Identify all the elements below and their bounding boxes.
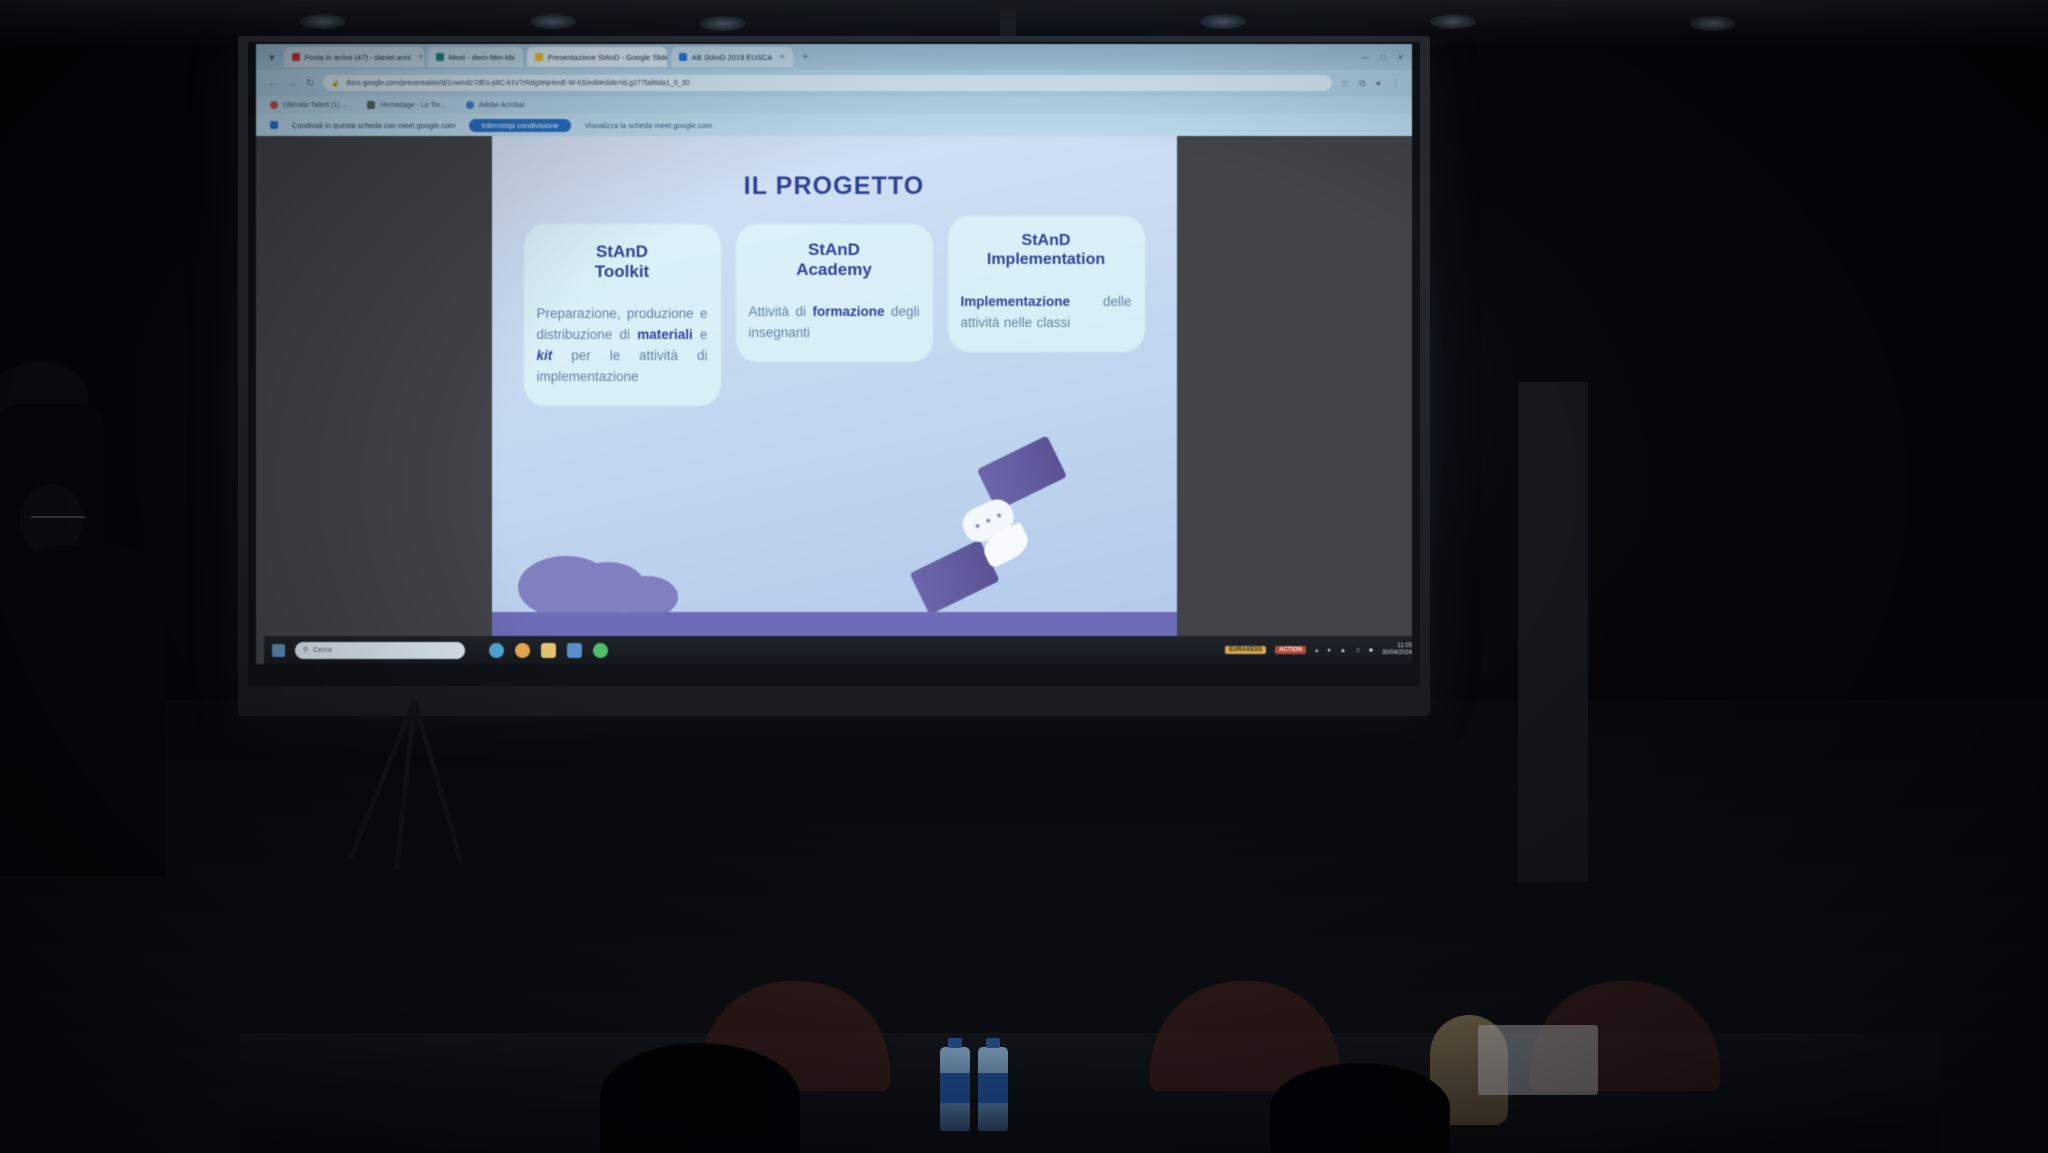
card-heading: StAnD Academy [749, 240, 920, 280]
drive-icon [679, 53, 687, 61]
page-title: IL PROGETTO [492, 172, 1177, 201]
maximize-button[interactable]: □ [1380, 53, 1385, 62]
usb-icon[interactable]: ♦ [1327, 647, 1330, 654]
browser-tab[interactable]: Posta in arrivo (47) - daniel.anni ✕ [284, 47, 424, 67]
search-placeholder: Cerca [313, 647, 332, 654]
forward-icon[interactable]: → [287, 78, 297, 89]
card-body: Attività di formazione degli insegnanti [749, 302, 920, 344]
ceiling-light [1200, 14, 1246, 29]
status-badge: EURAXESS [1225, 646, 1266, 654]
bookmark-item[interactable]: Adobe Acrobat [466, 101, 525, 109]
right-wall-panel [1518, 382, 1588, 882]
battery-icon[interactable]: ■ [1369, 647, 1373, 654]
water-bottle [978, 1047, 1008, 1131]
satellite-window [996, 513, 1001, 518]
system-tray: EURAXESS ACTION ▴ ♦ ▲ ♫ ■ 11:03 30/04/20… [1225, 643, 1412, 657]
bookmark-label: Homepage - Le Tor... [380, 102, 445, 109]
slides-icon [535, 53, 543, 61]
browser-tab[interactable]: Meet - dwm-fdm-kbi [428, 47, 523, 67]
card-stand-implementation: StAnD Implementation Implementazione del… [948, 216, 1145, 352]
projector-mount [1000, 0, 1016, 40]
card-body: Implementazione delle attività nelle cla… [961, 292, 1132, 334]
search-icon: ⚲ [303, 646, 308, 654]
chrome-taskbar-icon[interactable] [515, 643, 530, 658]
taskbar-app-icons [489, 643, 608, 658]
clock-time: 11:03 [1397, 643, 1412, 649]
bookmark-star-icon[interactable]: ☆ [1341, 78, 1349, 89]
card-body: Preparazione, produzione e distribuzione… [537, 304, 708, 388]
url-text: docs.google.com/presentation/d/1nwmdz7dE… [346, 80, 689, 87]
meet-banner-icon [270, 121, 278, 129]
clock-date: 30/04/2024 [1382, 650, 1412, 656]
slides-canvas-area: IL PROGETTO StAnD Toolkit Preparazione, … [256, 136, 1412, 664]
screen-share-banner: Condividi in questa scheda con meet.goog… [256, 114, 1412, 136]
acrobat-bookmark-icon [466, 101, 474, 109]
home-bookmark-icon [367, 101, 375, 109]
tab-title: AB StAnD 2019 EUSCA [692, 53, 772, 62]
card-heading: StAnD Implementation [961, 232, 1132, 270]
bottle-label [978, 1073, 1008, 1103]
bookmarks-bar: Ultimate Talent (1) ... Homepage - Le To… [256, 96, 1412, 114]
presentation-slide: IL PROGETTO StAnD Toolkit Preparazione, … [492, 136, 1177, 664]
browser-tab-active[interactable]: Presentazione StAnD - Google Slides ✕ [527, 47, 667, 67]
stop-sharing-button[interactable]: Interrompi condivisione [469, 119, 570, 132]
address-bar[interactable]: 🔒 docs.google.com/presentation/d/1nwmdz7… [323, 75, 1332, 91]
close-icon[interactable]: ✕ [779, 53, 785, 61]
bookmark-label: Adobe Acrobat [479, 102, 525, 109]
youtube-bookmark-icon [270, 101, 278, 109]
card-stand-academy: StAnD Academy Attività di formazione deg… [736, 224, 933, 362]
volume-icon[interactable]: ♫ [1355, 647, 1360, 654]
tab-title: Presentazione StAnD - Google Slides [548, 53, 667, 62]
minimize-button[interactable]: — [1360, 53, 1368, 62]
ceiling-light [1690, 16, 1736, 31]
profile-avatar[interactable]: ● [1376, 78, 1381, 88]
toolbar-right-group: ☆ ⧉ ● ⋮ [1341, 78, 1400, 89]
close-window-button[interactable]: ✕ [1397, 53, 1404, 62]
explorer-taskbar-icon[interactable] [541, 643, 556, 658]
view-tab-link[interactable]: Visualizza la scheda meet.google.com [585, 121, 712, 130]
bottle-label [940, 1073, 970, 1103]
ceiling-light [530, 14, 576, 29]
satellite-window [974, 523, 979, 528]
satellite-illustration [871, 422, 1108, 640]
camera-tripod [356, 700, 476, 880]
meet-icon [436, 53, 444, 61]
chrome-menu-icon[interactable]: ⋮ [1391, 78, 1400, 89]
speaker-glasses [30, 516, 86, 525]
tab-title: Meet - dwm-fdm-kbi [449, 53, 515, 62]
tab-title: Posta in arrivo (47) - daniel.anni [305, 53, 411, 62]
ceiling-light [300, 14, 346, 29]
network-icon[interactable]: ▲ [1340, 647, 1346, 654]
chevron-up-icon[interactable]: ▴ [1315, 646, 1318, 654]
ceiling-light [1430, 14, 1476, 29]
speaker-body-silhouette [0, 546, 165, 876]
new-tab-button[interactable]: + [797, 51, 813, 63]
seated-person-silhouette [1270, 1063, 1450, 1153]
cards-row: StAnD Toolkit Preparazione, produzione e… [524, 224, 1145, 406]
tripod-leg [412, 699, 464, 864]
chrome-browser-window: ▾ Posta in arrivo (47) - daniel.anni ✕ M… [256, 44, 1412, 664]
spotify-taskbar-icon[interactable] [593, 643, 608, 658]
browser-tab-strip: ▾ Posta in arrivo (47) - daniel.anni ✕ M… [256, 44, 1412, 70]
ceiling-light [700, 16, 746, 31]
windows-taskbar: ⚲ Cerca EURAXESS ACTION ▴ ♦ [264, 636, 1412, 664]
reload-icon[interactable]: ↻ [306, 78, 314, 89]
bookmark-item[interactable]: Homepage - Le Tor... [367, 101, 445, 109]
gmail-icon [292, 53, 300, 61]
window-controls: — □ ✕ [1360, 44, 1404, 70]
card-stand-toolkit: StAnD Toolkit Preparazione, produzione e… [524, 224, 721, 406]
start-button[interactable] [272, 644, 285, 657]
white-box-object [1478, 1025, 1598, 1095]
card-heading: StAnD Toolkit [537, 242, 708, 282]
back-icon[interactable]: ← [268, 78, 278, 89]
edge-taskbar-icon[interactable] [489, 643, 504, 658]
conference-room-photo: ▾ Posta in arrivo (47) - daniel.anni ✕ M… [0, 0, 2048, 1153]
taskbar-clock[interactable]: 11:03 30/04/2024 [1382, 643, 1412, 657]
browser-toolbar: ← → ↻ 🔒 docs.google.com/presentation/d/1… [256, 70, 1412, 96]
projection-screen-surface: ▾ Posta in arrivo (47) - daniel.anni ✕ M… [248, 42, 1420, 686]
mail-taskbar-icon[interactable] [567, 643, 582, 658]
bookmark-item[interactable]: Ultimate Talent (1) ... [270, 101, 347, 109]
projection-screen-frame: ▾ Posta in arrivo (47) - daniel.anni ✕ M… [238, 36, 1430, 716]
satellite-window [985, 518, 990, 523]
close-icon[interactable]: ✕ [418, 53, 424, 61]
browser-tab[interactable]: AB StAnD 2019 EUSCA ✕ [671, 47, 793, 67]
water-bottle [940, 1047, 970, 1131]
bookmark-label: Ultimate Talent (1) ... [283, 102, 347, 109]
seated-person-silhouette [600, 1043, 800, 1153]
share-banner-text: Condividi in questa scheda con meet.goog… [292, 121, 455, 130]
extensions-icon[interactable]: ⧉ [1359, 78, 1365, 89]
search-input[interactable]: ⚲ Cerca [295, 642, 465, 659]
tab-list-chevron-icon[interactable]: ▾ [264, 51, 280, 64]
lock-icon: 🔒 [331, 79, 340, 87]
status-badge-secondary: ACTION [1275, 646, 1306, 654]
